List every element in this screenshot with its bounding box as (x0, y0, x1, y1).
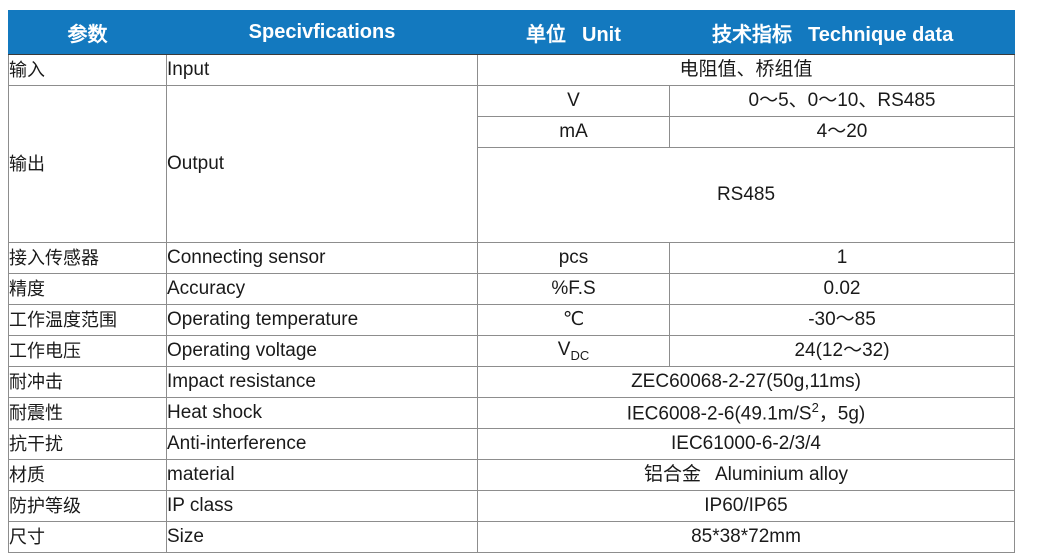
table-row: 尺寸 Size 85*38*72mm (9, 522, 1015, 553)
row-value: 0～5、0～10、RS485 (670, 86, 1015, 117)
row-label-cn: 抗干扰 (9, 429, 167, 460)
row-value-tail: ，5g) (819, 403, 865, 424)
row-label-cn: 尺寸 (9, 522, 167, 553)
row-label-en: Connecting sensor (167, 243, 478, 274)
row-unit: %F.S (478, 274, 670, 305)
column-header-unit: 单位Unit (478, 11, 670, 55)
column-header-technique-data: 技术指标Technique data (670, 11, 1015, 55)
table-row: 工作温度范围 Operating temperature ℃ -30～85 (9, 305, 1015, 336)
column-header-parameter-cn: 参数 (68, 24, 108, 46)
row-label-en: Operating temperature (167, 305, 478, 336)
specification-sheet: 参数 Specivfications 单位Unit 技术指标Technique … (8, 10, 1014, 553)
table-row: 输入 Input 电阻值、桥组值 (9, 55, 1015, 86)
table-row: 输出 Output V 0～5、0～10、RS485 (9, 86, 1015, 117)
table-row: 接入传感器 Connecting sensor pcs 1 (9, 243, 1015, 274)
row-value-merged: IEC6008-2-6(49.1m/S2，5g) (478, 398, 1015, 429)
row-label-cn: 材质 (9, 460, 167, 491)
row-label-en: Size (167, 522, 478, 553)
row-label-cn: 输出 (9, 86, 167, 243)
row-unit: V (478, 86, 670, 117)
row-label-cn: 输入 (9, 55, 167, 86)
row-label-en: IP class (167, 491, 478, 522)
column-header-unit-cn: 单位 (526, 24, 566, 46)
row-value-merged: 电阻值、桥组值 (478, 55, 1015, 86)
column-header-specifications-en: Specivfications (249, 21, 396, 43)
row-unit: VDC (478, 336, 670, 367)
row-unit-base: V (558, 339, 571, 360)
table-row: 抗干扰 Anti-interference IEC61000-6-2/3/4 (9, 429, 1015, 460)
row-label-en: Input (167, 55, 478, 86)
row-value: 24(12～32) (670, 336, 1015, 367)
row-value-en: Aluminium alloy (715, 464, 848, 485)
table-row: 材质 material 铝合金Aluminium alloy (9, 460, 1015, 491)
row-value: 1 (670, 243, 1015, 274)
row-value-merged: IEC61000-6-2/3/4 (478, 429, 1015, 460)
row-label-en: Impact resistance (167, 367, 478, 398)
row-unit: ℃ (478, 305, 670, 336)
row-label-cn: 工作电压 (9, 336, 167, 367)
row-value-merged: 85*38*72mm (478, 522, 1015, 553)
row-value: -30～85 (670, 305, 1015, 336)
row-label-cn: 耐冲击 (9, 367, 167, 398)
row-value: 4～20 (670, 117, 1015, 148)
row-label-en: Heat shock (167, 398, 478, 429)
row-value-cn: 铝合金 (644, 464, 701, 485)
column-header-technique-en: Technique data (808, 24, 953, 46)
row-unit: mA (478, 117, 670, 148)
row-label-cn: 精度 (9, 274, 167, 305)
row-label-en: material (167, 460, 478, 491)
table-row: 耐冲击 Impact resistance ZEC60068-2-27(50g,… (9, 367, 1015, 398)
row-label-cn: 工作温度范围 (9, 305, 167, 336)
row-value-merged: ZEC60068-2-27(50g,11ms) (478, 367, 1015, 398)
row-unit: pcs (478, 243, 670, 274)
row-value: 0.02 (670, 274, 1015, 305)
row-label-en: Operating voltage (167, 336, 478, 367)
column-header-technique-cn: 技术指标 (712, 24, 792, 46)
table-row: 工作电压 Operating voltage VDC 24(12～32) (9, 336, 1015, 367)
row-label-en: Output (167, 86, 478, 243)
row-label-cn: 防护等级 (9, 491, 167, 522)
column-header-parameter: 参数 (9, 11, 167, 55)
row-label-en: Accuracy (167, 274, 478, 305)
column-header-specifications: Specivfications (167, 11, 478, 55)
row-value-superscript: 2 (812, 400, 819, 415)
row-label-cn: 耐震性 (9, 398, 167, 429)
row-value-base: IEC6008-2-6(49.1m/S (627, 403, 812, 424)
row-value-merged: RS485 (478, 148, 1015, 243)
row-label-cn: 接入传感器 (9, 243, 167, 274)
table-row: 防护等级 IP class IP60/IP65 (9, 491, 1015, 522)
column-header-unit-en: Unit (582, 24, 621, 46)
row-label-en: Anti-interference (167, 429, 478, 460)
specification-table: 参数 Specivfications 单位Unit 技术指标Technique … (8, 10, 1015, 553)
row-unit-subscript: DC (570, 347, 589, 362)
row-value-merged: IP60/IP65 (478, 491, 1015, 522)
table-row: 耐震性 Heat shock IEC6008-2-6(49.1m/S2，5g) (9, 398, 1015, 429)
row-value-merged: 铝合金Aluminium alloy (478, 460, 1015, 491)
table-row: 精度 Accuracy %F.S 0.02 (9, 274, 1015, 305)
table-header-row: 参数 Specivfications 单位Unit 技术指标Technique … (9, 11, 1015, 55)
